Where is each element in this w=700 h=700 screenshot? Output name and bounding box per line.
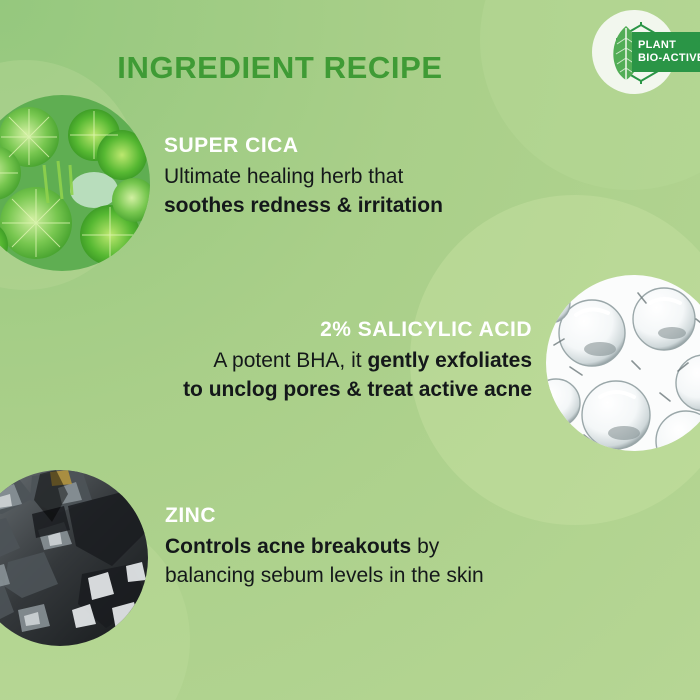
ingredient-name: 2% SALICYLIC ACID	[183, 317, 532, 343]
ingredient-image-salicylic-acid	[546, 275, 700, 451]
logo-line-2: BIO-ACTIVES	[638, 52, 700, 65]
ingredient-desc-line: to unclog pores & treat active acne	[183, 375, 532, 404]
ingredient-desc-line: soothes redness & irritation	[164, 191, 443, 220]
desc-bold: Controls acne breakouts	[165, 535, 411, 558]
ingredient-desc-line: balancing sebum levels in the skin	[165, 561, 484, 590]
desc-trail: by	[411, 535, 439, 558]
desc-plain: balancing sebum levels in the skin	[165, 564, 484, 587]
logo-banner: PLANT BIO-ACTIVES	[632, 32, 700, 72]
desc-plain: A potent BHA, it	[213, 349, 367, 372]
page-title: INGREDIENT RECIPE	[0, 51, 560, 85]
ingredient-recipe-poster: PLANT BIO-ACTIVES INGREDIENT RECIPE	[0, 0, 700, 700]
desc-plain: Ultimate healing herb that	[164, 165, 403, 188]
ingredient-desc-line: A potent BHA, it gently exfoliates	[183, 346, 532, 375]
ingredient-desc-line: Controls acne breakouts by	[165, 532, 484, 561]
ingredient-block-zinc: ZINC Controls acne breakouts by balancin…	[165, 503, 484, 590]
desc-bold: to unclog pores & treat active acne	[183, 378, 532, 401]
desc-bold: gently exfoliates	[367, 349, 532, 372]
brand-logo: PLANT BIO-ACTIVES	[582, 6, 700, 98]
ingredient-block-super-cica: SUPER CICA Ultimate healing herb that so…	[164, 133, 443, 220]
logo-line-1: PLANT	[638, 39, 700, 52]
ingredient-block-salicylic-acid: 2% SALICYLIC ACID A potent BHA, it gentl…	[183, 317, 532, 404]
ingredient-name: SUPER CICA	[164, 133, 443, 159]
ingredient-image-super-cica	[0, 95, 150, 271]
desc-bold: soothes redness & irritation	[164, 194, 443, 217]
ingredient-name: ZINC	[165, 503, 484, 529]
ingredient-image-zinc	[0, 470, 148, 646]
ingredient-desc-line: Ultimate healing herb that	[164, 162, 443, 191]
